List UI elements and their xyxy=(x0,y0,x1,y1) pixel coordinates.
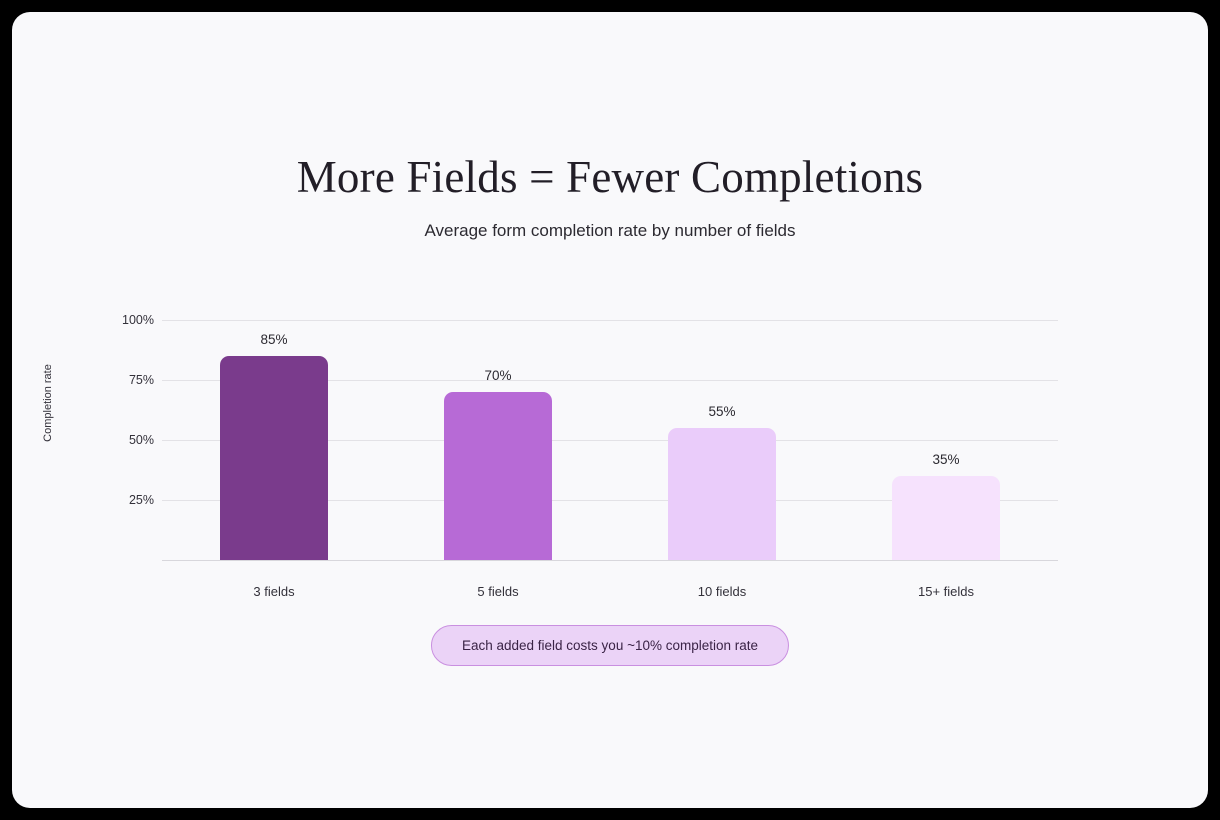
y-axis-title: Completion rate xyxy=(42,333,54,473)
bar-group[interactable]: 35%15+ fields xyxy=(834,320,1058,560)
x-axis-tick-label: 5 fields xyxy=(477,584,518,599)
bar-value-label: 85% xyxy=(260,332,287,347)
x-axis-tick-label: 15+ fields xyxy=(918,584,974,599)
bar-group[interactable]: 85%3 fields xyxy=(162,320,386,560)
bar[interactable] xyxy=(668,428,776,560)
bar-value-label: 70% xyxy=(484,368,511,383)
bar[interactable] xyxy=(444,392,552,560)
x-axis-tick-label: 10 fields xyxy=(698,584,746,599)
y-axis-tick-label: 50% xyxy=(129,433,154,447)
chart-bars: 85%3 fields70%5 fields55%10 fields35%15+… xyxy=(162,320,1058,560)
bar-group[interactable]: 70%5 fields xyxy=(386,320,610,560)
bar[interactable] xyxy=(892,476,1000,560)
bar-value-label: 55% xyxy=(708,404,735,419)
chart-plot-area: Completion rate 100%75%50%25% 85%3 field… xyxy=(12,12,1208,808)
bar-value-label: 35% xyxy=(932,452,959,467)
y-axis-tick-label: 100% xyxy=(122,313,154,327)
footnote-badge: Each added field costs you ~10% completi… xyxy=(431,625,789,666)
y-axis-tick-label: 25% xyxy=(129,493,154,507)
y-axis-tick-label: 75% xyxy=(129,373,154,387)
bar[interactable] xyxy=(220,356,328,560)
x-axis-tick-label: 3 fields xyxy=(253,584,294,599)
axis-baseline xyxy=(162,560,1058,561)
bar-group[interactable]: 55%10 fields xyxy=(610,320,834,560)
y-axis-ticks: 100%75%50%25% xyxy=(72,320,154,560)
chart-card: More Fields = Fewer Completions Average … xyxy=(12,12,1208,808)
